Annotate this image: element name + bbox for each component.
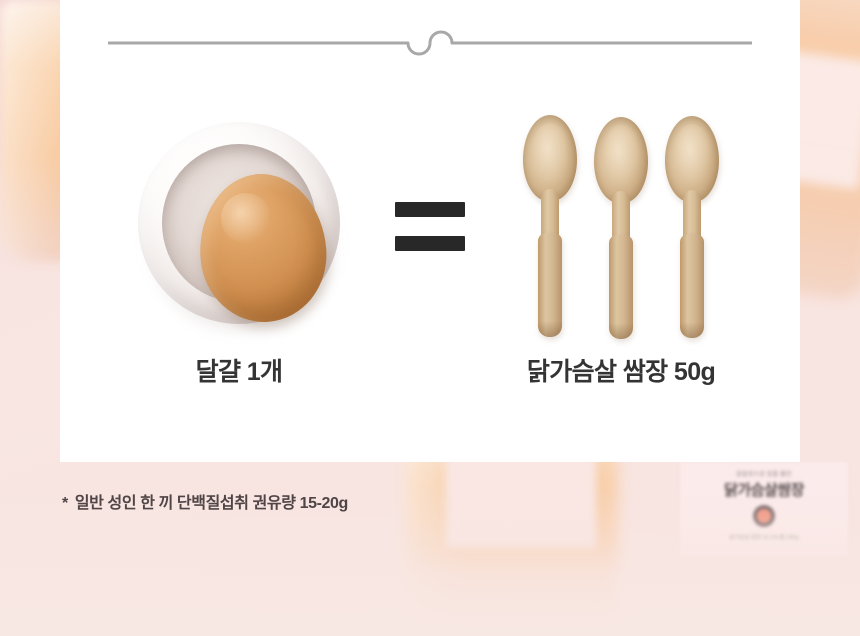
comparison-row bbox=[60, 96, 800, 356]
product-label-top-line: 닭알로스로 당을 줄인 bbox=[680, 469, 848, 478]
egg-caption: 달걀 1개 bbox=[108, 352, 370, 388]
equals-bar-top bbox=[395, 202, 465, 217]
equals-sign bbox=[370, 202, 490, 251]
footnote-marker: * bbox=[62, 495, 68, 512]
sauce-caption: 닭가슴살 쌈장 50g bbox=[490, 352, 752, 388]
footnote: *일반 성인 한 끼 단백질섭취 권유량 15-20g bbox=[62, 489, 348, 513]
wooden-spoon bbox=[662, 116, 722, 338]
bowl bbox=[138, 122, 340, 324]
bowl-interior bbox=[162, 144, 316, 302]
spoons-side bbox=[490, 101, 752, 351]
content-card: 달걀 1개 닭가슴살 쌈장 50g bbox=[60, 0, 800, 462]
egg-side bbox=[108, 101, 370, 351]
spoon-handle bbox=[609, 235, 633, 339]
spoon-handle bbox=[680, 234, 704, 338]
footnote-text: 일반 성인 한 끼 단백질섭취 권유량 15-20g bbox=[75, 495, 348, 512]
caption-row: 달걀 1개 닭가슴살 쌈장 50g bbox=[60, 352, 800, 388]
wooden-spoon bbox=[591, 117, 651, 339]
three-wooden-spoons-photo bbox=[520, 115, 722, 337]
promo-page: 닭알로스로 당을 줄인 닭가슴살쌈장 닭가슴살 함량 32.2%/총 250g bbox=[0, 0, 860, 636]
s-curve-ornament-icon bbox=[108, 18, 752, 68]
egg-in-bowl-photo bbox=[132, 119, 346, 333]
equals-bar-bottom bbox=[395, 236, 465, 251]
wooden-spoon bbox=[520, 115, 580, 337]
spoon-handle bbox=[538, 233, 562, 337]
divider bbox=[108, 18, 752, 68]
